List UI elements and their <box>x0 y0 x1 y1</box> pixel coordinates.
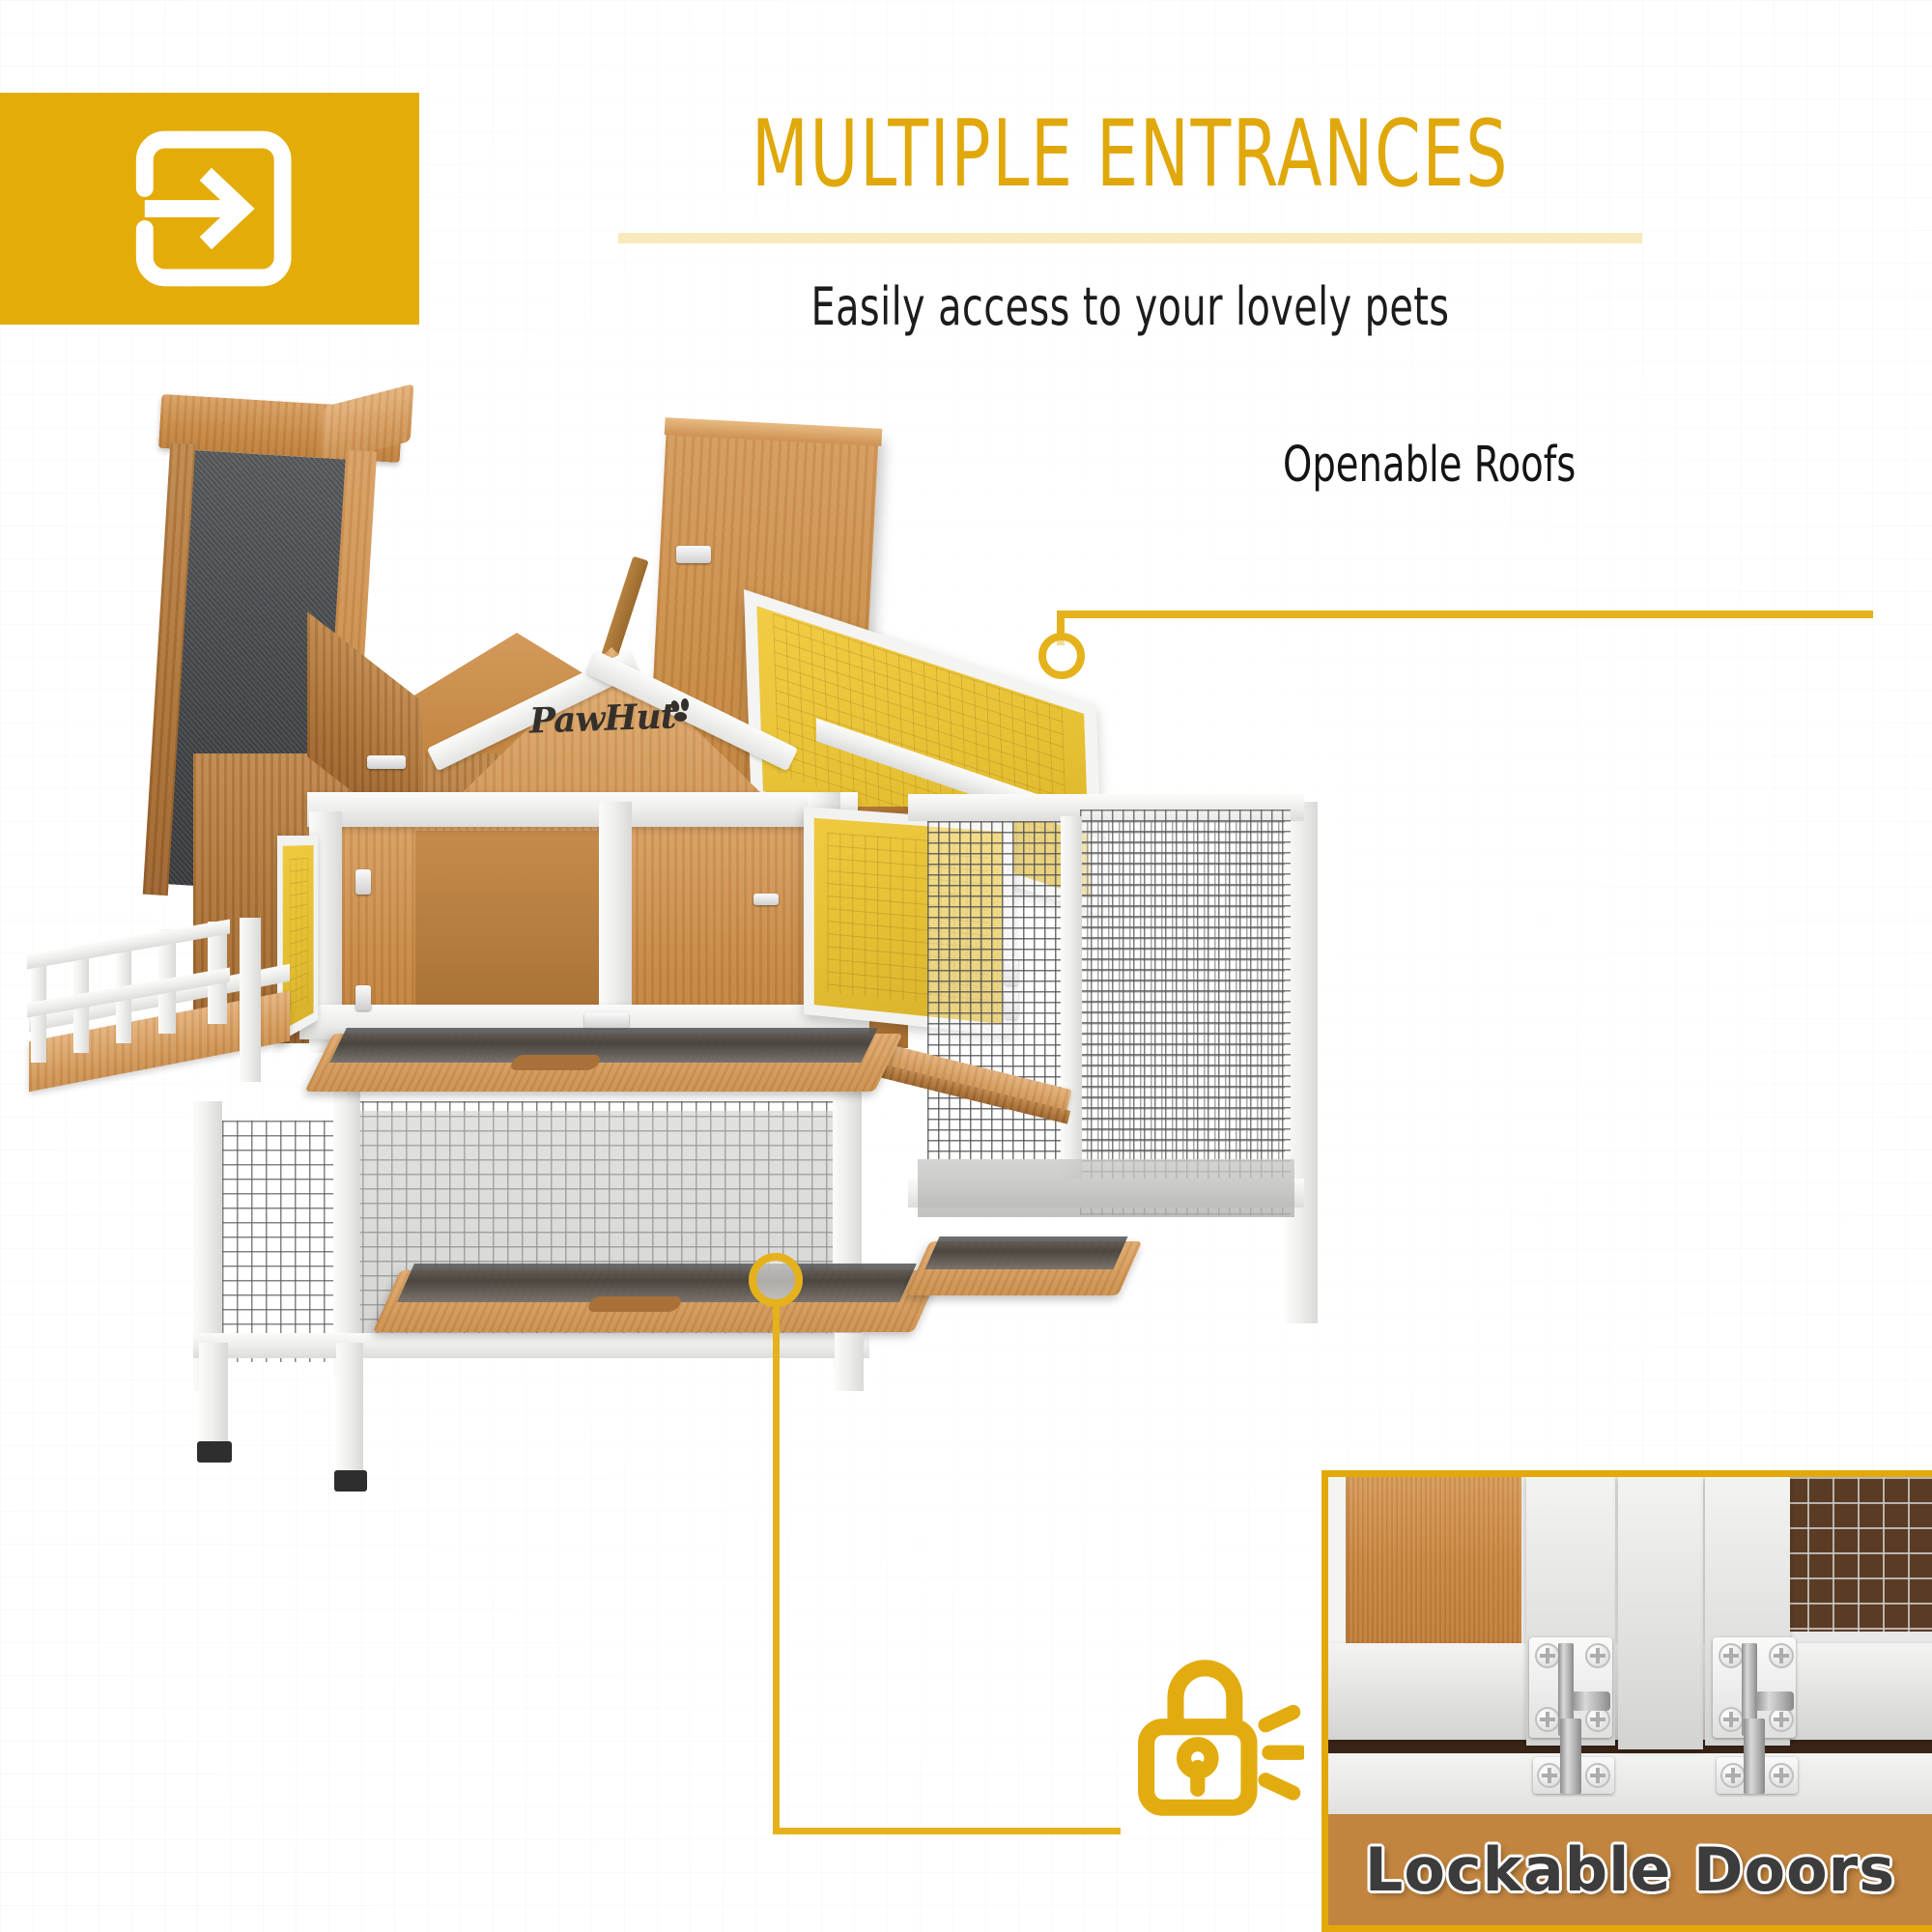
inset-bolt-2-lower <box>1744 1719 1765 1794</box>
inset-screw-2f <box>1769 1763 1794 1788</box>
leg-front-right <box>835 1333 864 1391</box>
inset-screw-2a <box>1719 1643 1744 1668</box>
inset-caption-bar: Lockable Doors <box>1328 1814 1932 1932</box>
inset-screw-2c <box>1719 1707 1744 1732</box>
hutch-interior-shadow <box>415 831 628 1014</box>
inset-caption-text: Lockable Doors <box>1365 1834 1895 1905</box>
run-post-mid <box>1061 816 1082 1193</box>
lockable-doors-line-horizontal <box>773 1828 1121 1834</box>
brand-logo: PawHut <box>529 696 703 742</box>
openable-roofs-marker <box>1038 633 1085 679</box>
run-floor <box>918 1159 1294 1217</box>
door-latch <box>584 1012 629 1029</box>
enter-arrow-icon <box>108 107 311 310</box>
inset-screw-1b <box>1585 1643 1610 1668</box>
side-latch <box>753 894 779 905</box>
inset-bolt-knob-1 <box>1572 1691 1610 1711</box>
inset-screw-1a <box>1535 1643 1560 1668</box>
inset-wood-panel-left <box>1328 1477 1521 1651</box>
tray-lower-left-handle <box>585 1296 683 1312</box>
pull-out-tray-upper-surface <box>329 1028 878 1063</box>
foot-front-left <box>197 1441 232 1463</box>
tray-upper-handle <box>508 1055 603 1070</box>
balcony-connector <box>240 918 261 1082</box>
header-text-block: MULTIPLE ENTRANCES Easily access to your… <box>454 108 1806 337</box>
inset-bolt-knob-2 <box>1755 1691 1794 1711</box>
leg-front-left <box>199 1343 228 1449</box>
pull-out-tray-lower-right-surface <box>924 1236 1127 1269</box>
roof-hinge <box>676 546 711 563</box>
lockable-doors-inset-panel: Lockable Doors <box>1321 1470 1932 1932</box>
page-title: MULTIPLE ENTRANCES <box>589 108 1671 202</box>
lower-run-rail-bottom <box>193 1333 869 1358</box>
openable-roofs-line-horizontal <box>1057 611 1873 618</box>
page-subtitle: Easily access to your lovely pets <box>576 276 1685 337</box>
leg-mid-left <box>336 1343 363 1478</box>
left-door-hinge-top <box>355 869 371 895</box>
openable-roofs-label: Openable Roofs <box>1283 437 1576 494</box>
left-door-hinge-bottom <box>355 985 371 1010</box>
open-padlock-icon <box>1121 1642 1304 1835</box>
inset-wire-mesh-panel <box>1782 1477 1932 1632</box>
lower-run-mesh-left <box>208 1121 343 1362</box>
inset-screw-1e <box>1537 1763 1562 1788</box>
lockable-doors-line-vertical <box>773 1304 780 1833</box>
lockable-doors-marker <box>749 1253 803 1307</box>
wall-hook <box>367 755 406 769</box>
paw-print-icon <box>669 698 695 724</box>
inset-screw-1c <box>1535 1707 1560 1732</box>
inset-screw-1f <box>1585 1763 1610 1788</box>
title-divider <box>618 233 1642 243</box>
hutch-eave-rail <box>307 792 858 827</box>
inset-stile-2 <box>1618 1477 1703 1749</box>
inset-screw-2b <box>1769 1643 1794 1668</box>
brand-logo-text: PawHut <box>528 696 676 741</box>
inset-bolt-1-lower <box>1560 1719 1581 1794</box>
inset-screw-2e <box>1720 1763 1746 1788</box>
foot-mid-left <box>334 1470 367 1492</box>
header-icon-badge <box>0 93 419 325</box>
run-mesh-right-side <box>1080 810 1291 1215</box>
